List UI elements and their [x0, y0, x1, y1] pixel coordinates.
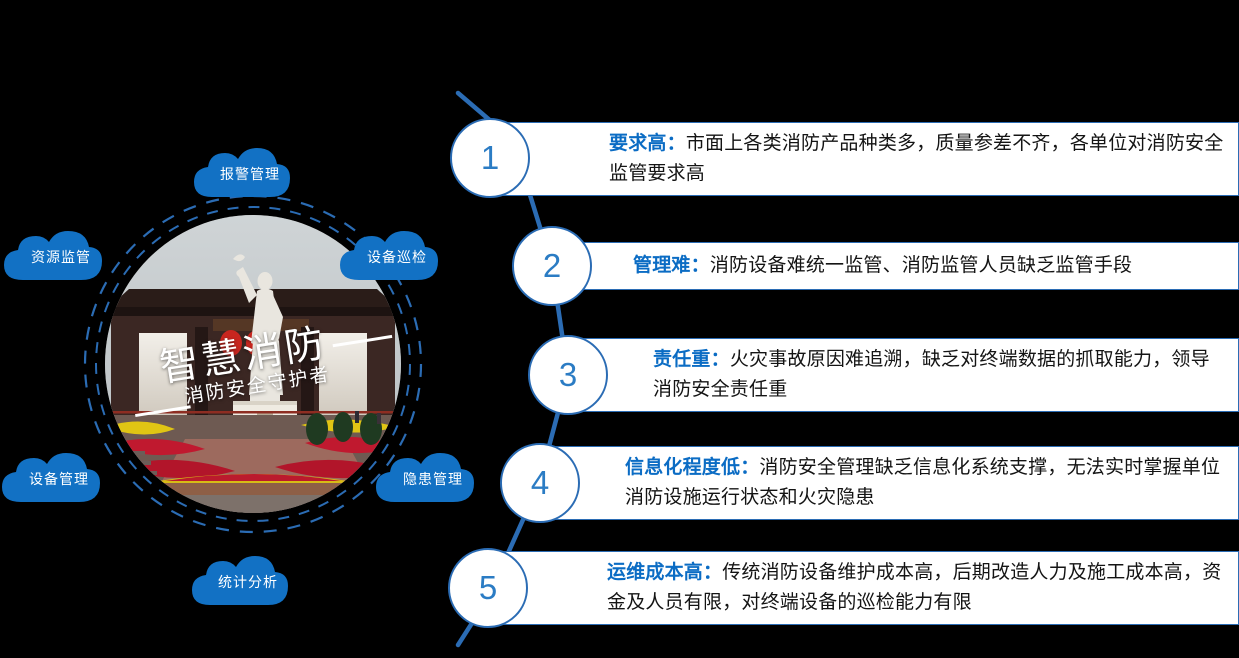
- list-item[interactable]: 要求高：市面上各类消防产品种类多，质量参差不齐，各单位对消防安全监管要求高: [500, 122, 1239, 196]
- cloud-chip-statistical-analysis[interactable]: 统计分析: [192, 553, 304, 611]
- list-item-heading: 运维成本高：: [607, 562, 722, 583]
- cloud-label: 设备管理: [29, 469, 89, 489]
- list-item-number-label: 3: [559, 356, 577, 394]
- list-item-text: 信息化程度低：消防安全管理缺乏信息化系统支撑，无法实时掌握单位消防设施运行状态和…: [551, 453, 1238, 513]
- cloud-label: 设备巡检: [367, 247, 427, 267]
- hero-diagram: 智慧消防 消防安全守护者 报警管理 资源监管 设备巡检: [0, 0, 450, 658]
- cloud-chip-equipment-inspection[interactable]: 设备巡检: [340, 228, 454, 286]
- list-item-number-label: 2: [543, 247, 561, 285]
- cloud-label: 报警管理: [220, 164, 280, 184]
- list-item-body: 火灾事故原因难追溯，缺乏对终端数据的抓取能力，领导消防安全责任重: [653, 349, 1210, 400]
- list-item-number-label: 5: [479, 569, 497, 607]
- cloud-chip-resource-supervision[interactable]: 资源监管: [4, 228, 118, 286]
- list-item-number-label: 1: [481, 139, 499, 177]
- list-item-number-label: 4: [531, 464, 549, 502]
- cloud-label: 资源监管: [31, 247, 91, 267]
- list-item-body: 市面上各类消防产品种类多，质量参差不齐，各单位对消防安全监管要求高: [609, 133, 1223, 184]
- cloud-chip-equipment-management[interactable]: 设备管理: [2, 450, 116, 508]
- list-item-text: 管理难：消防设备难统一监管、消防监管人员缺乏监管手段: [563, 251, 1146, 281]
- list-item-heading: 管理难：: [633, 255, 710, 276]
- list-item[interactable]: 信息化程度低：消防安全管理缺乏信息化系统支撑，无法实时掌握单位消防设施运行状态和…: [550, 446, 1239, 520]
- cloud-label: 隐患管理: [403, 469, 463, 489]
- list-item[interactable]: 责任重：火灾事故原因难追溯，缺乏对终端数据的抓取能力，领导消防安全责任重: [578, 338, 1239, 412]
- list-item-number[interactable]: 3: [528, 335, 608, 415]
- list-item-text: 责任重：火灾事故原因难追溯，缺乏对终端数据的抓取能力，领导消防安全责任重: [579, 345, 1238, 405]
- cloud-chip-alarm-management[interactable]: 报警管理: [194, 145, 306, 203]
- issue-list: 要求高：市面上各类消防产品种类多，质量参差不齐，各单位对消防安全监管要求高 1 …: [440, 0, 1239, 658]
- list-item-text: 运维成本高：传统消防设备维护成本高，后期改造人力及施工成本高，资金及人员有限，对…: [499, 558, 1238, 618]
- list-item-heading: 信息化程度低：: [625, 457, 759, 478]
- list-item-number[interactable]: 4: [500, 443, 580, 523]
- list-item-heading: 要求高：: [609, 133, 686, 154]
- cloud-label: 统计分析: [218, 572, 278, 592]
- list-item-heading: 责任重：: [653, 349, 730, 370]
- list-item-number[interactable]: 5: [448, 548, 528, 628]
- list-item[interactable]: 管理难：消防设备难统一监管、消防监管人员缺乏监管手段: [562, 242, 1239, 290]
- list-item-number[interactable]: 2: [512, 226, 592, 306]
- list-item[interactable]: 运维成本高：传统消防设备维护成本高，后期改造人力及施工成本高，资金及人员有限，对…: [498, 551, 1239, 625]
- infographic-canvas: 智慧消防 消防安全守护者 报警管理 资源监管 设备巡检: [0, 0, 1239, 658]
- list-item-text: 要求高：市面上各类消防产品种类多，质量参差不齐，各单位对消防安全监管要求高: [501, 129, 1238, 189]
- list-item-number[interactable]: 1: [450, 118, 530, 198]
- list-item-body: 消防设备难统一监管、消防监管人员缺乏监管手段: [710, 255, 1132, 276]
